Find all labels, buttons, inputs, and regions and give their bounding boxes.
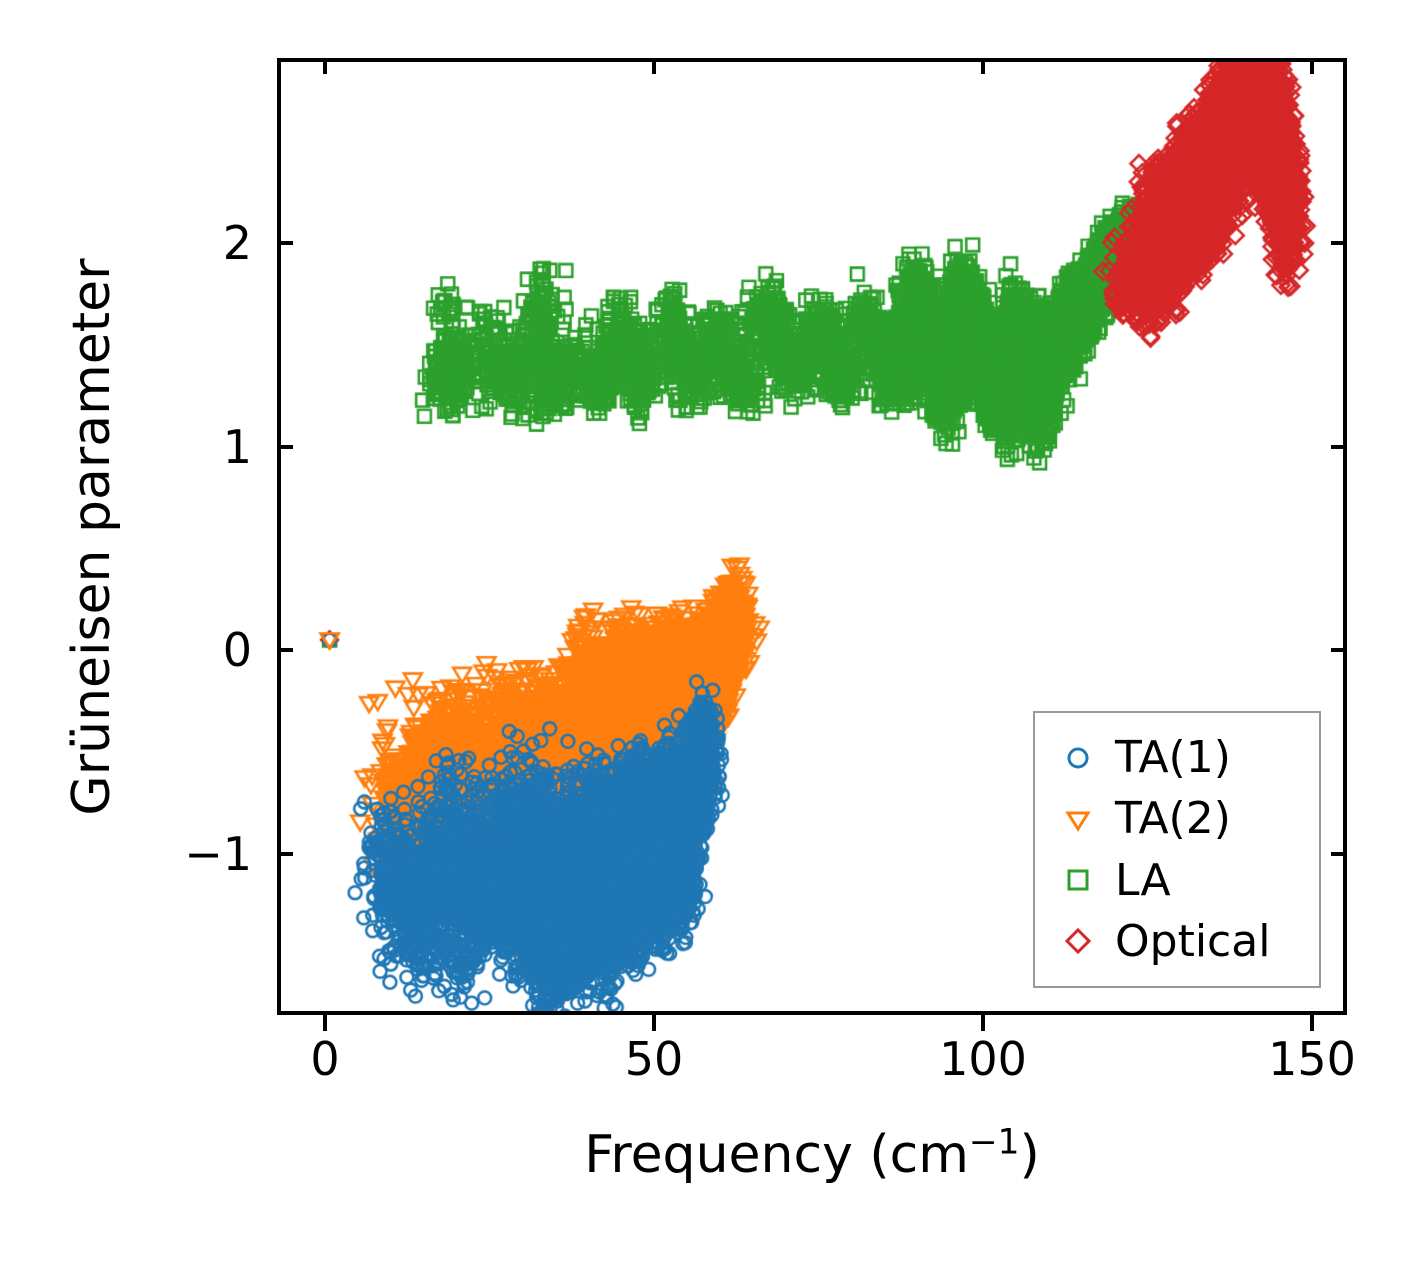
legend-label-ta2: TA(2) [1115, 793, 1231, 844]
xtick-mark-top-50 [652, 58, 656, 74]
diamond-marker-icon [1055, 926, 1101, 956]
legend-item-optical[interactable]: Optical [1035, 911, 1319, 972]
x-axis-label-exponent: −1 [969, 1123, 1020, 1163]
xtick-mark-100 [981, 1015, 985, 1031]
legend-item-ta1[interactable]: TA(1) [1035, 727, 1319, 788]
ytick-mark-minus1 [277, 852, 293, 856]
ytick-label-minus1: −1 [184, 831, 252, 877]
ytick-mark-right-minus1 [1331, 852, 1347, 856]
ytick-mark-right-0 [1331, 648, 1347, 652]
matplotlib-figure: 0 50 100 150 2 1 0 −1 Frequency (cm−1) G… [0, 0, 1406, 1264]
xtick-mark-0 [323, 1015, 327, 1031]
xtick-label-0: 0 [310, 1036, 339, 1082]
legend-item-la[interactable]: LA [1035, 850, 1319, 911]
legend-label-ta1: TA(1) [1115, 732, 1231, 783]
xtick-mark-50 [652, 1015, 656, 1031]
xtick-label-150: 150 [1268, 1036, 1356, 1082]
legend-item-ta2[interactable]: TA(2) [1035, 788, 1319, 849]
triangle-down-marker-icon [1055, 804, 1101, 834]
ytick-mark-0 [277, 648, 293, 652]
y-axis-label: Grüneisen parameter [62, 258, 122, 815]
legend-label-optical: Optical [1115, 916, 1270, 967]
ytick-mark-1 [277, 445, 293, 449]
ytick-label-0: 0 [223, 627, 252, 673]
xtick-mark-150 [1310, 1015, 1314, 1031]
ytick-mark-2 [277, 241, 293, 245]
xtick-mark-top-150 [1310, 58, 1314, 74]
xtick-label-50: 50 [625, 1036, 684, 1082]
ytick-label-1: 1 [223, 424, 252, 470]
circle-marker-icon [1055, 743, 1101, 773]
ytick-mark-right-1 [1331, 445, 1347, 449]
ytick-mark-right-2 [1331, 241, 1347, 245]
xtick-label-100: 100 [939, 1036, 1027, 1082]
legend-label-la: LA [1115, 855, 1171, 906]
xtick-mark-top-100 [981, 58, 985, 74]
legend-box[interactable]: TA(1) TA(2) LA Optic [1033, 711, 1321, 988]
square-marker-icon [1055, 865, 1101, 895]
xtick-mark-top-0 [323, 58, 327, 74]
x-axis-label-tail: ) [1020, 1125, 1040, 1185]
ytick-label-2: 2 [223, 220, 252, 266]
x-axis-label: Frequency (cm−1) [584, 1125, 1040, 1185]
x-axis-label-main: Frequency (cm [584, 1125, 969, 1185]
